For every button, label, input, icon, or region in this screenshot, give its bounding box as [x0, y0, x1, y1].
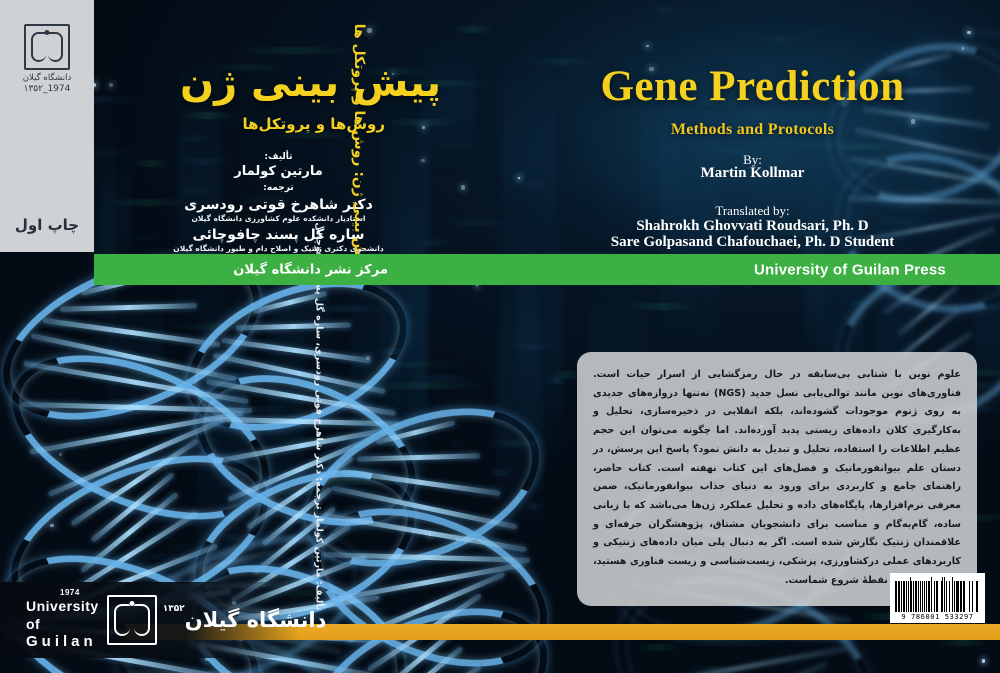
back-author-name: Martin Kollmar	[505, 165, 1000, 182]
back-cover-panel: Gene Prediction Methods and Protocols By…	[505, 0, 1000, 673]
back-translated-label: Translated by:	[505, 203, 1000, 219]
edition-label: چاپ اول	[0, 216, 94, 234]
back-subtitle-en: Methods and Protocols	[505, 121, 1000, 139]
spine-authors-fa: تألیف: مارتین کولمار ترجمه: دکتر شاهرخ ق…	[314, 281, 325, 611]
book-spine: پیش بینی ژن: روش ها و پروتکل ها تألیف: م…	[463, 0, 505, 673]
university-line-2: Guilan	[26, 633, 99, 652]
publisher-name-fa: مرکز نشر دانشگاه گیلان	[233, 262, 388, 277]
university-line-1: University of	[26, 598, 99, 633]
front-translator-1: دکتر شاهرخ قوتی رودسری	[94, 197, 463, 213]
spine-title-fa: پیش بینی ژن: روش ها و پروتکل ها	[351, 21, 367, 271]
front-credits-block: تألیف: مارتین کولمار ترجمه: دکتر شاهرخ ق…	[94, 148, 463, 253]
flap-university-logo: دانشگاه گیلان ۱۳۵۲_1974	[19, 24, 75, 94]
book-cover: دانشگاه گیلان ۱۳۵۲_1974 چاپ اول پیش بینی…	[0, 0, 1000, 673]
flap-logo-name-fa: دانشگاه گیلان	[19, 73, 75, 83]
front-translator-2-affiliation: دانشجوی دکتری ژنتیک و اصلاح دام و طیور د…	[94, 244, 463, 253]
university-logo-plate: 1974 University of Guilan ۱۳۵۲ دانشگاه گ…	[0, 582, 300, 658]
university-year-fa: ۱۳۵۲	[163, 604, 185, 614]
front-author-name: مارتین کولمار	[94, 164, 463, 179]
front-cover-panel: پیش بینی ژن روش‌ها و پروتکل‌ها تألیف: ما…	[94, 0, 463, 254]
flap-logo-years: ۱۳۵۲_1974	[19, 84, 75, 94]
front-author-label: تألیف:	[94, 152, 463, 162]
barcode-icon	[890, 573, 985, 613]
front-translator-label: ترجمه:	[94, 183, 463, 193]
barcode-block: 9 786001 533297	[890, 573, 985, 623]
front-translator-1-affiliation: استادیار دانشکده علوم کشاورزی دانشگاه گی…	[94, 214, 463, 223]
back-translator-2: Sare Golpasand Chafouchaei, Ph. D Studen…	[505, 234, 1000, 251]
university-name-en: 1974 University of Guilan	[26, 588, 99, 652]
front-title-fa: پیش بینی ژن	[180, 60, 441, 106]
back-title-en: Gene Prediction	[505, 62, 1000, 111]
front-flap-panel: دانشگاه گیلان ۱۳۵۲_1974 چاپ اول	[0, 0, 94, 252]
guilan-emblem-icon	[24, 24, 70, 70]
front-translator-2: ساره گل پسند چافوچائی	[94, 227, 463, 243]
back-translator-1: Shahrokh Ghovvati Roudsari, Ph. D	[505, 218, 1000, 235]
back-blurb-text: علوم نوین با شتابی بی‌سابقه در حال رمزگش…	[577, 352, 977, 606]
guilan-emblem-icon	[107, 595, 157, 645]
university-name-fa: دانشگاه گیلان	[185, 608, 327, 632]
university-year-en: 1974	[60, 588, 99, 598]
